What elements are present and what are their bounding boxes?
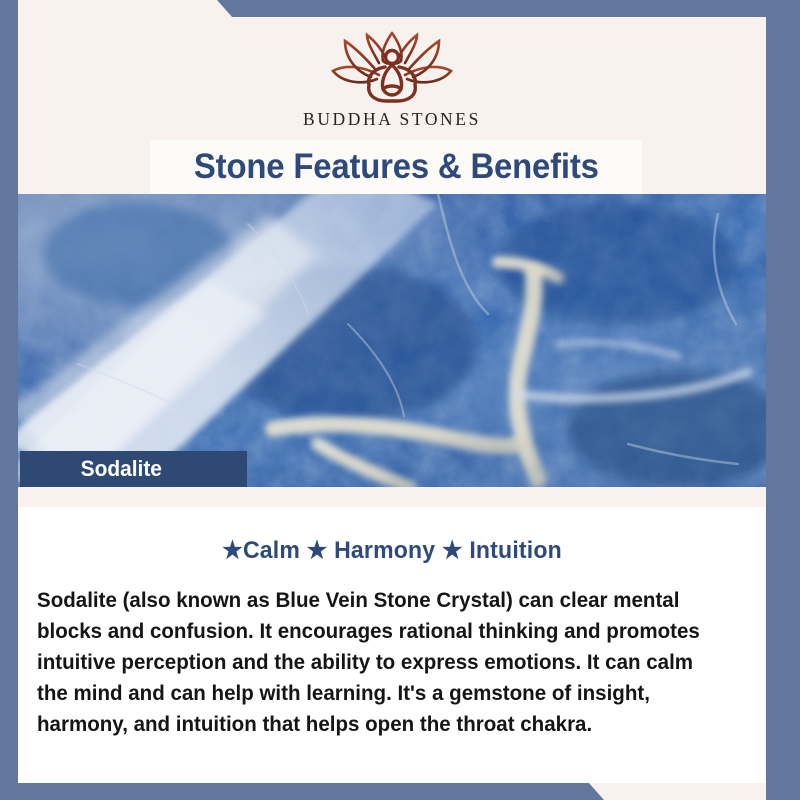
frame-bottom-accent-bar	[0, 782, 800, 800]
frame-right-accent-bar	[766, 0, 800, 800]
photo-text-separator	[18, 487, 766, 507]
sodalite-stone-photo	[18, 194, 766, 487]
keyword-list: ★Calm ★ Harmony ★ Intuition	[33, 536, 751, 565]
stone-description: Sodalite (also known as Blue Vein Stone …	[37, 585, 721, 740]
brand-name: BUDDHA STONES	[303, 109, 481, 130]
stone-info-poster: BUDDHA STONES Stone Features & Benefits	[0, 0, 800, 800]
poster-content-area: BUDDHA STONES Stone Features & Benefits	[18, 17, 766, 783]
frame-top-accent-bar	[0, 0, 800, 18]
page-title: Stone Features & Benefits	[194, 147, 599, 187]
title-card: Stone Features & Benefits	[150, 140, 642, 194]
brand-header: BUDDHA STONES	[18, 17, 766, 140]
stone-name-label: Sodalite	[24, 456, 162, 482]
frame-left-accent-bar	[0, 0, 18, 800]
lotus-meditation-figure-icon	[317, 29, 467, 107]
stone-name-tab: Sodalite	[20, 451, 247, 487]
description-panel: ★Calm ★ Harmony ★ Intuition Sodalite (al…	[18, 507, 766, 783]
